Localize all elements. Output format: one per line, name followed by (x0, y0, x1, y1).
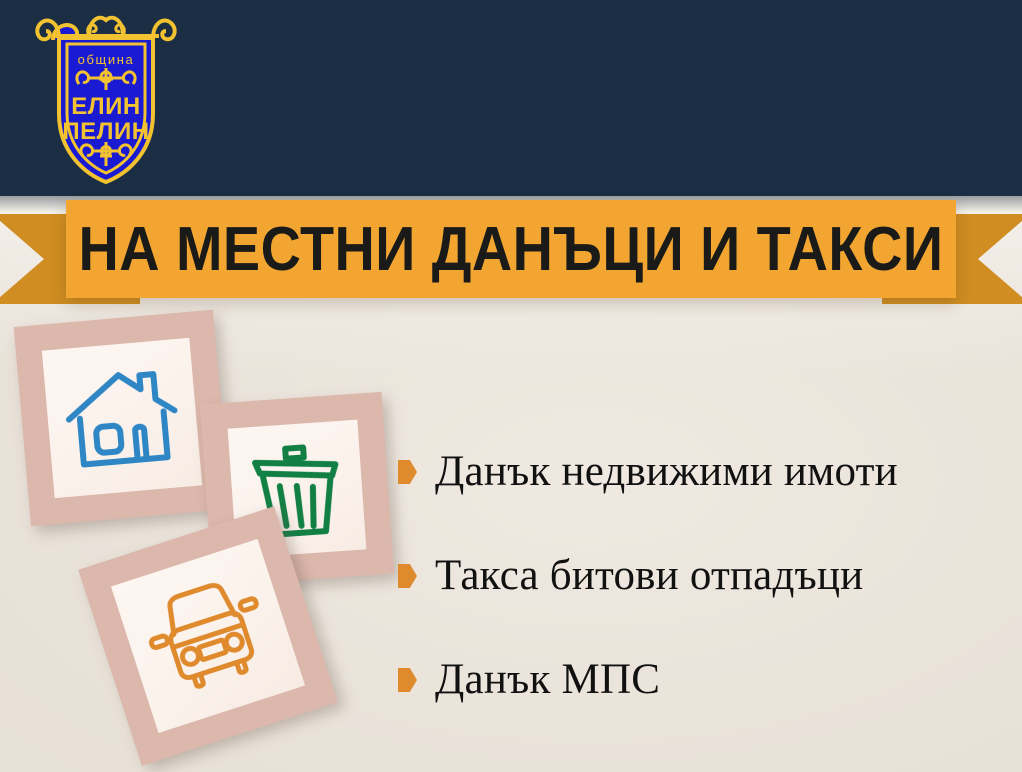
list-item[interactable]: Данък МПС (398, 628, 1010, 732)
arrow-bullet-icon (398, 460, 417, 484)
car-icon (134, 568, 282, 705)
list-item-label: Данък недвижими имоти (435, 447, 898, 497)
stamp-paper (42, 338, 202, 498)
ribbon-label: НА МЕСТНИ ДАНЪЦИ И ТАКСИ (111, 200, 912, 298)
municipality-crest-icon: община ЕЛИН ПЕЛИН (27, 6, 185, 190)
crest-line-main-2: ПЕЛИН (62, 118, 149, 145)
list-item[interactable]: Такса битови отпадъци (398, 524, 1010, 628)
ribbon-banner: НА МЕСТНИ ДАНЪЦИ И ТАКСИ (0, 200, 1022, 304)
poster-root: ПРОВЕРКА И ПЛАЩАНЕ НА ЗАДЪЛЖЕНИЯ община (0, 0, 1022, 772)
list-item-label: Данък МПС (435, 655, 660, 705)
list-item-label: Такса битови отпадъци (435, 551, 863, 601)
arrow-bullet-icon (398, 564, 417, 588)
arrow-bullet-icon (398, 668, 417, 692)
crest-line-top: община (78, 52, 135, 67)
crest-line-main-1: ЕЛИН (71, 93, 140, 120)
list-item[interactable]: Данък недвижими имоти (398, 420, 1010, 524)
house-icon (59, 361, 186, 475)
stamp-card-house (14, 310, 231, 527)
tax-type-list: Данък недвижими имоти Такса битови отпад… (398, 420, 1010, 732)
